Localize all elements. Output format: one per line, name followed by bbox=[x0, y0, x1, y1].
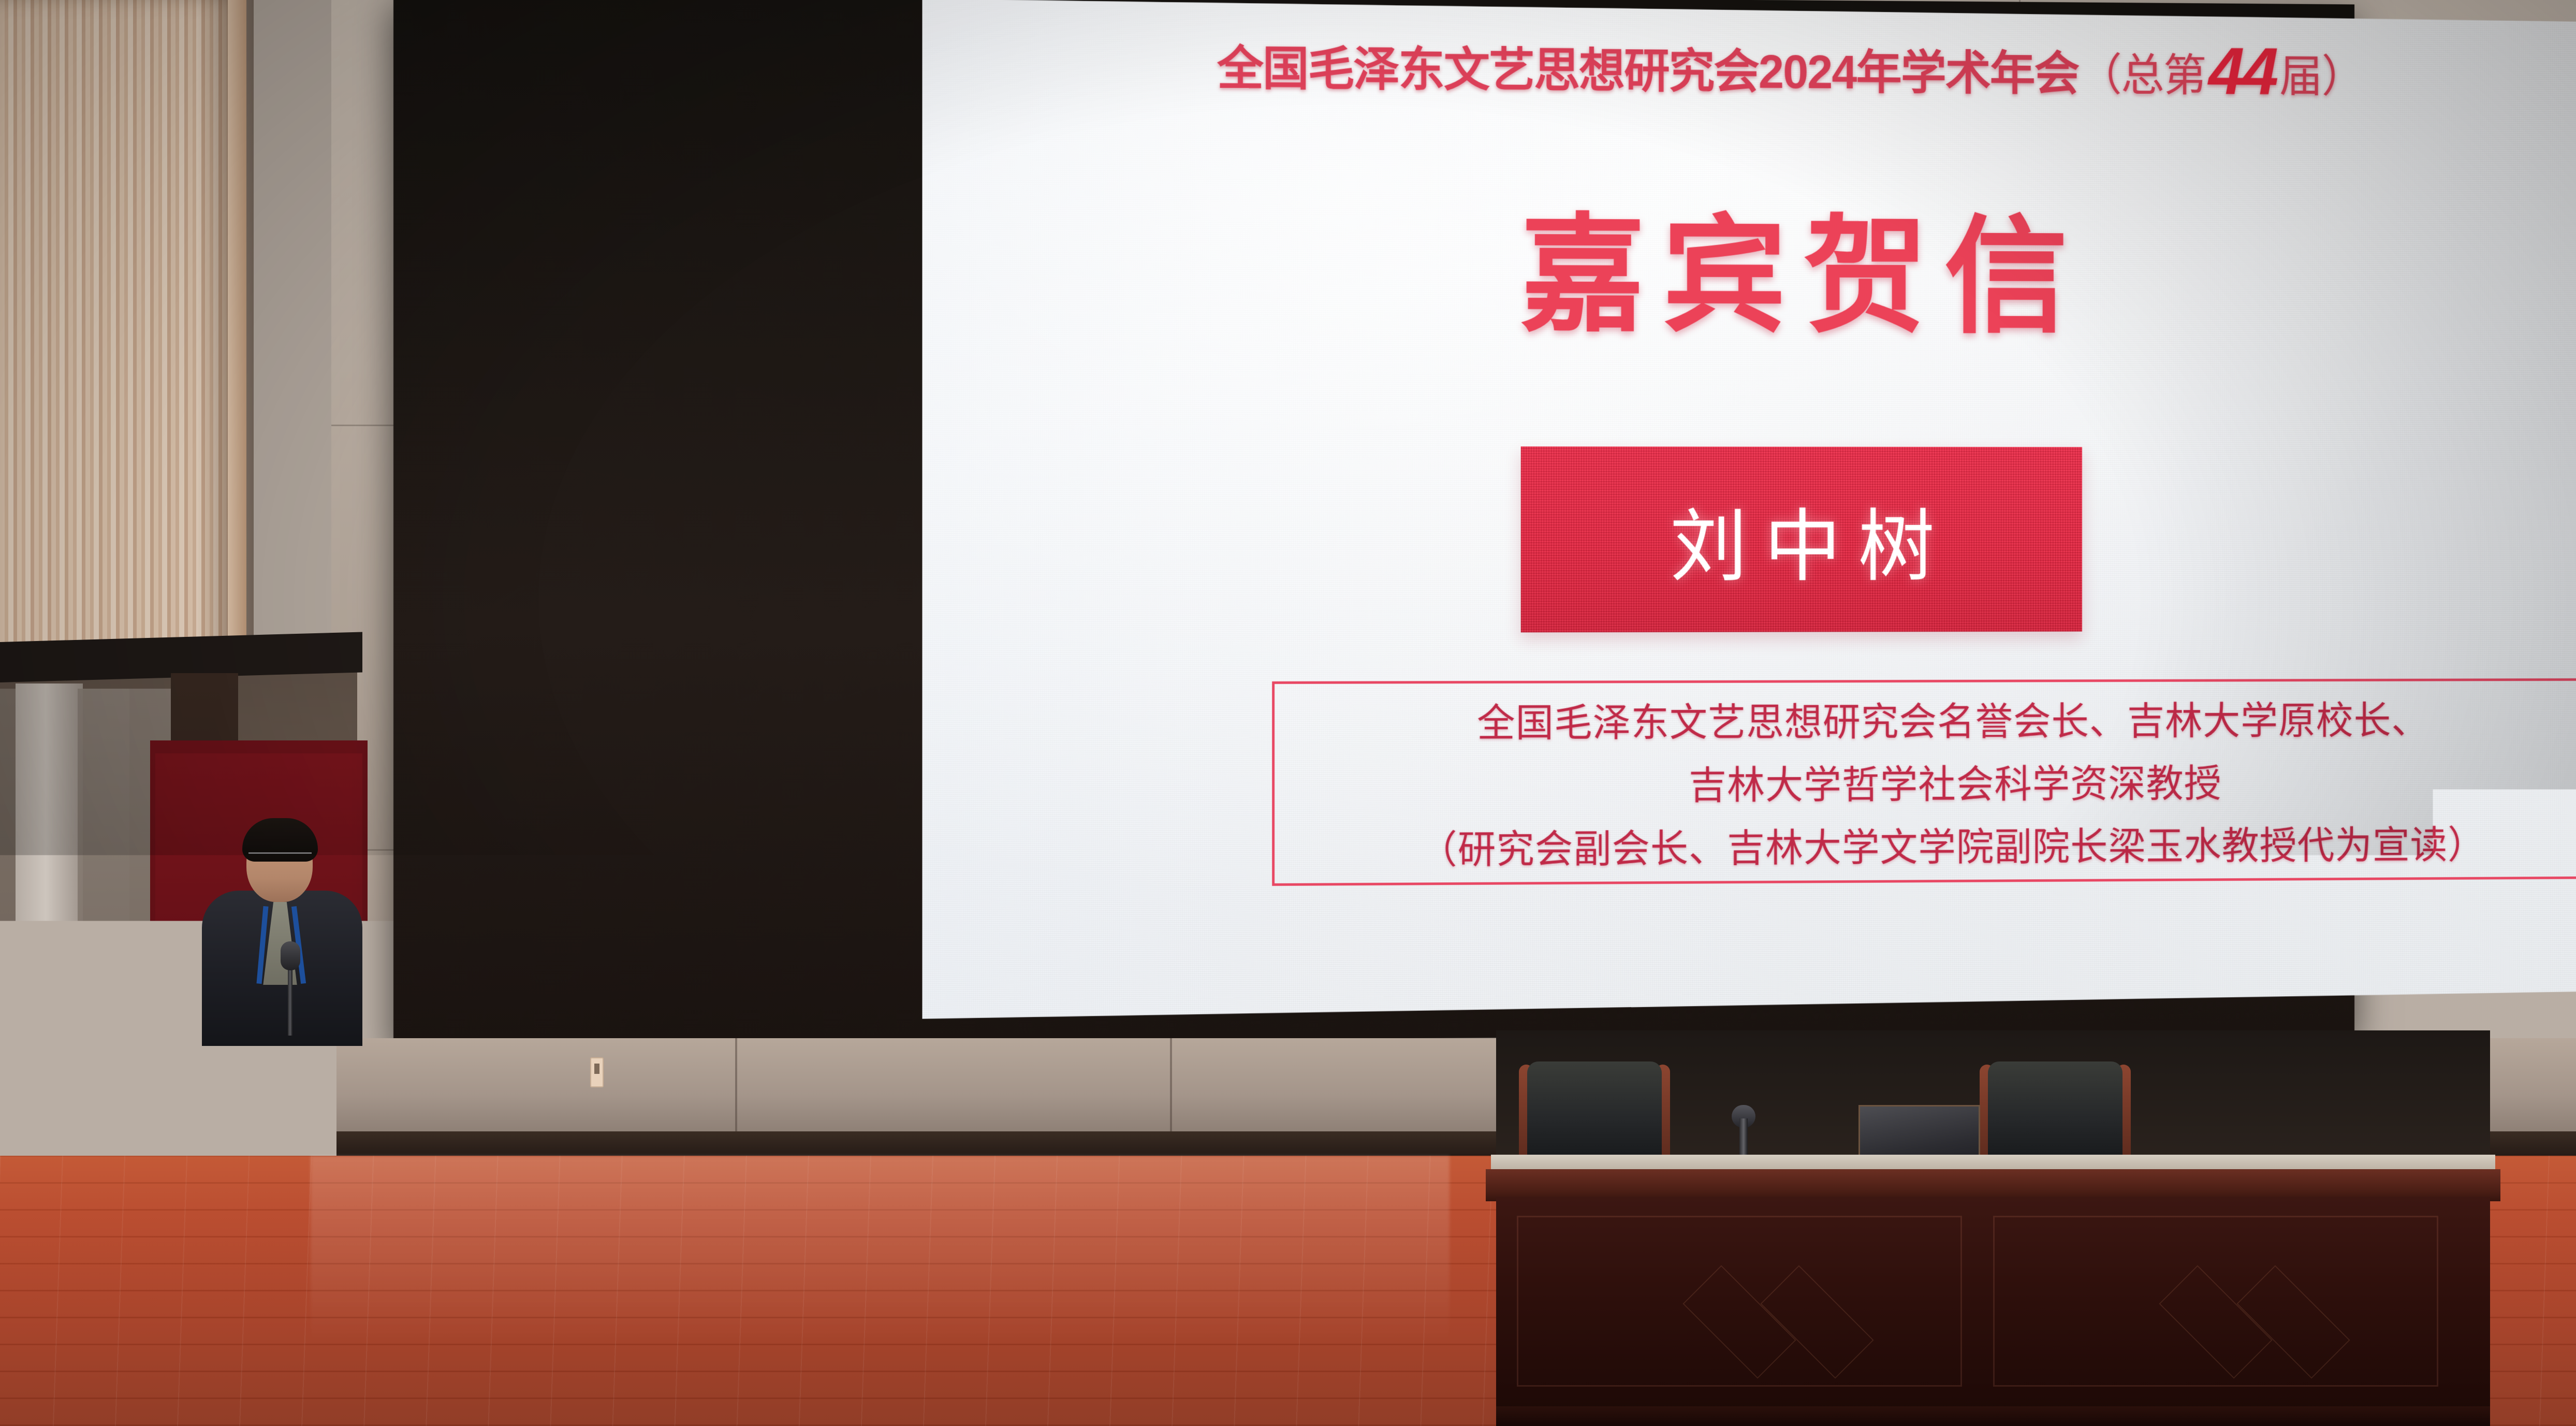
speaker-name-text: 刘中树 bbox=[1653, 482, 1952, 596]
column-edge bbox=[228, 0, 246, 689]
floor-reflection bbox=[311, 1156, 1450, 1426]
description-line-3: （研究会副会长、吉林大学文学院副院长梁玉水教授代为宣读） bbox=[1419, 813, 2485, 874]
header-edition-number: 44 bbox=[2205, 34, 2279, 108]
table-base-plinth bbox=[1496, 1406, 2490, 1426]
table-front-face bbox=[1496, 1197, 2490, 1415]
lectern-podium: 喀什大学 喀什大学 1962 KASHI UNIVERSITY bbox=[124, 1030, 456, 1426]
table-carved-panel-right bbox=[1993, 1216, 2438, 1387]
emblem-name-en: KASHI UNIVERSITY bbox=[228, 1312, 331, 1319]
podium-body: 喀什大学 1962 KASHI UNIVERSITY bbox=[150, 1074, 430, 1426]
header-paren-open: （总第 bbox=[2079, 49, 2205, 100]
podium-red-banner: 喀什大学 bbox=[129, 1030, 450, 1076]
emblem-founding-year: 1962 bbox=[242, 1284, 317, 1298]
university-emblem-icon: 喀什大学 1962 KASHI UNIVERSITY bbox=[228, 1220, 331, 1323]
slide-title: 嘉宾贺信 bbox=[922, 168, 2576, 358]
description-line-2: 吉林大学哲学社会科学资深教授 bbox=[1689, 752, 2222, 810]
podium-microphone-head bbox=[281, 941, 300, 970]
speaker-description-box: 全国毛泽东文艺思想研究会名誉会长、吉林大学原校长、 吉林大学哲学社会科学资深教授… bbox=[1272, 678, 2576, 886]
speaker-glasses bbox=[248, 852, 312, 863]
table-top-surface bbox=[1486, 1169, 2500, 1201]
conference-hall-photo: 全国毛泽东文艺思想研究会2024年学术年会（总第44届） 嘉宾贺信 刘中树 全国… bbox=[0, 0, 2576, 1426]
description-line-1: 全国毛泽东文艺思想研究会名誉会长、吉林大学原校长、 bbox=[1477, 689, 2429, 748]
emblem-inner-disc: 1962 bbox=[242, 1234, 317, 1309]
table-carved-panel-left bbox=[1517, 1216, 1962, 1387]
head-table-area bbox=[1496, 1051, 2490, 1426]
header-paren-close: 届） bbox=[2279, 51, 2364, 101]
slide-conference-header: 全国毛泽东文艺思想研究会2024年学术年会（总第44届） bbox=[922, 23, 2576, 111]
speaker-person bbox=[197, 823, 373, 1046]
led-screen-bezel: 全国毛泽东文艺思想研究会2024年学术年会（总第44届） 嘉宾贺信 刘中树 全国… bbox=[393, 0, 2354, 1046]
podium-university-name: 喀什大学 bbox=[129, 1035, 450, 1075]
speaker-name-badge: 刘中树 bbox=[1521, 446, 2082, 632]
left-light-pillar bbox=[16, 683, 83, 1196]
conference-header-text: 全国毛泽东文艺思想研究会2024年学术年会 bbox=[1217, 42, 2079, 100]
wall-power-outlet bbox=[590, 1057, 604, 1087]
presentation-screen: 全国毛泽东文艺思想研究会2024年学术年会（总第44届） 嘉宾贺信 刘中树 全国… bbox=[922, 0, 2576, 1019]
